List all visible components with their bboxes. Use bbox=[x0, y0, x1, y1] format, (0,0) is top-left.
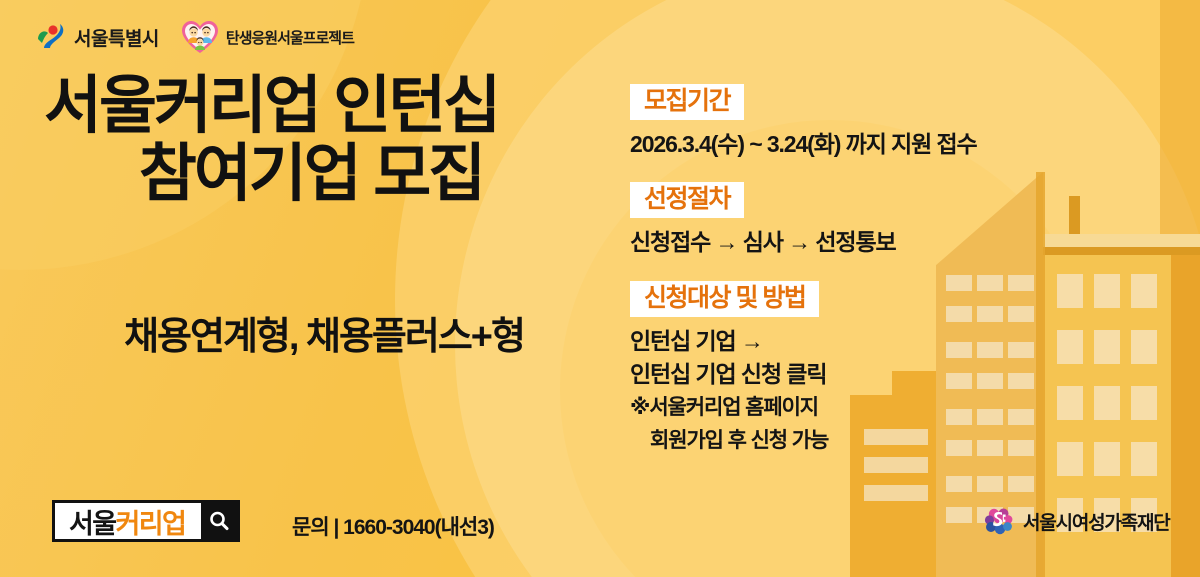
building-right-window bbox=[1094, 442, 1120, 476]
promotional-banner: 서울특별시 bbox=[0, 0, 1200, 577]
building-right-antenna bbox=[1069, 196, 1080, 234]
info-block-selection-process: 선정절차 신청접수 → 심사 → 선정통보 bbox=[630, 182, 1050, 258]
seoul-city-logo-label: 서울특별시 bbox=[74, 24, 159, 51]
building-middle-window bbox=[946, 476, 972, 492]
seoul-city-logo-icon bbox=[34, 21, 68, 53]
building-middle-window bbox=[977, 476, 1003, 492]
info-tag-recruitment-period: 모집기간 bbox=[630, 84, 744, 120]
search-brand-prefix: 서울 bbox=[69, 502, 115, 541]
info-note-application-line-2: 회원가입 후 신청 가능 bbox=[630, 427, 1050, 456]
info-tag-application: 신청대상 및 방법 bbox=[630, 281, 819, 317]
building-right-side-face bbox=[1171, 244, 1200, 577]
building-middle-window bbox=[946, 507, 972, 523]
headline-subtitle: 채용연계형, 채용플러스+형 bbox=[44, 305, 604, 360]
info-text-application-line-1: 인턴십 기업 → bbox=[630, 326, 1050, 357]
foundation-logo[interactable]: 서울시여성가족재단 bbox=[983, 505, 1170, 537]
building-right-window bbox=[1131, 330, 1157, 364]
search-box[interactable]: 서울 커리업 bbox=[52, 500, 240, 542]
building-small-window-bar bbox=[864, 485, 928, 501]
info-panel: 모집기간 2026.3.4(수) ~ 3.24(화) 까지 지원 접수 선정절차… bbox=[630, 84, 1050, 472]
headline-line-1: 서울커리업 인턴십 bbox=[44, 72, 604, 140]
building-right-window bbox=[1057, 442, 1083, 476]
info-block-recruitment-period: 모집기간 2026.3.4(수) ~ 3.24(화) 까지 지원 접수 bbox=[630, 84, 1050, 160]
building-right-window bbox=[1094, 274, 1120, 308]
info-tag-selection-process: 선정절차 bbox=[630, 182, 744, 218]
building-right-window bbox=[1094, 330, 1120, 364]
building-right-window bbox=[1057, 386, 1083, 420]
search-icon[interactable] bbox=[201, 503, 237, 539]
seoul-city-logo[interactable]: 서울특별시 bbox=[34, 21, 159, 53]
birth-support-project-logo[interactable]: 탄생응원서울프로젝트 bbox=[181, 20, 354, 54]
info-block-application: 신청대상 및 방법 인턴십 기업 → 인턴십 기업 신청 클릭 ※서울커리업 홈… bbox=[630, 281, 1050, 456]
foundation-logo-icon bbox=[983, 505, 1015, 537]
contact-info: 문의 | 1660-3040(내선3) bbox=[292, 511, 494, 541]
building-right-window bbox=[1131, 386, 1157, 420]
headline: 서울커리업 인턴십 참여기업 모집 bbox=[44, 72, 604, 208]
birth-support-project-label: 탄생응원서울프로젝트 bbox=[226, 27, 354, 48]
search-brand-suffix: 커리업 bbox=[115, 502, 185, 541]
building-right-window bbox=[1057, 330, 1083, 364]
info-note-application-line-1: ※서울커리업 홈페이지 bbox=[630, 394, 1050, 423]
building-right-roof bbox=[1033, 234, 1200, 247]
headline-line-2: 참여기업 모집 bbox=[44, 140, 604, 208]
building-middle-window bbox=[1008, 476, 1034, 492]
header-logos: 서울특별시 bbox=[34, 20, 354, 54]
building-right-window bbox=[1057, 274, 1083, 308]
info-text-recruitment-period: 2026.3.4(수) ~ 3.24(화) 까지 지원 접수 bbox=[630, 129, 1050, 160]
foundation-logo-label: 서울시여성가족재단 bbox=[1023, 508, 1170, 535]
building-right-window bbox=[1094, 386, 1120, 420]
heart-family-logo-icon bbox=[181, 20, 219, 54]
info-text-application-line-2: 인턴십 기업 신청 클릭 bbox=[630, 359, 1050, 390]
info-text-selection-process: 신청접수 → 심사 → 선정통보 bbox=[630, 227, 1050, 258]
building-right-window bbox=[1131, 442, 1157, 476]
building-right-window bbox=[1131, 274, 1157, 308]
